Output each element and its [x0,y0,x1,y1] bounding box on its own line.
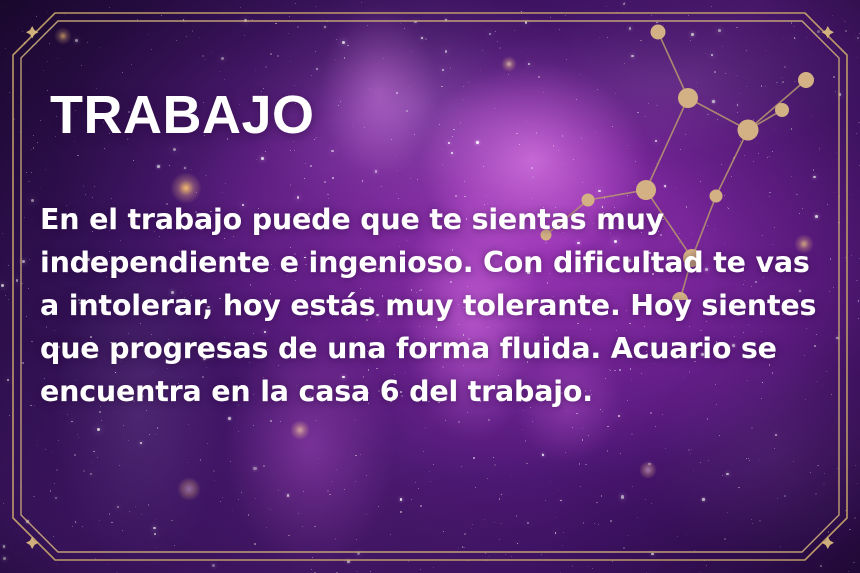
page-title: TRABAJO [50,88,315,142]
paragraph-line: a intolerar, hoy estás muy tolerante. Ho… [40,284,820,327]
horoscope-card: TRABAJO En el trabajo puede que te sient… [0,0,860,573]
horoscope-paragraph: En el trabajo puede que te sientas muyin… [40,198,820,413]
paragraph-line: independiente e ingenioso. Con dificulta… [40,241,820,284]
paragraph-line: que progresas de una forma fluida. Acuar… [40,327,820,370]
paragraph-line: encuentra en la casa 6 del trabajo. [40,370,820,413]
paragraph-line: En el trabajo puede que te sientas muy [40,198,820,241]
card-content: TRABAJO En el trabajo puede que te sient… [0,0,860,573]
